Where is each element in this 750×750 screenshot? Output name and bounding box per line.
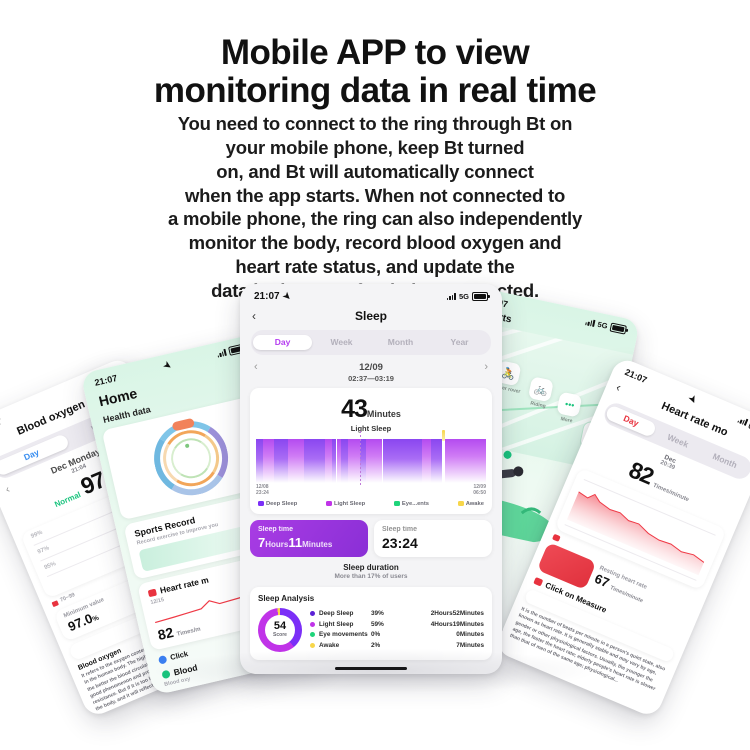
date-bar: ‹ 12/09 › <box>240 355 502 373</box>
status-bar: 21:07 ➤ 5G <box>240 284 502 305</box>
promo-page: Mobile APP to view monitoring data in re… <box>0 0 750 750</box>
battery-icon <box>472 292 488 301</box>
location-icon: ➤ <box>280 290 293 303</box>
signal-icon <box>737 416 748 426</box>
bedtime-label: Sleep time <box>382 526 484 533</box>
legend-item: Eye...ents <box>394 501 429 507</box>
hypnogram-band <box>288 439 304 483</box>
battery-icon <box>610 322 628 334</box>
hypnogram-band <box>383 439 422 483</box>
duration-sub: More than 17% of users <box>240 573 502 580</box>
location-icon: ➤ <box>161 359 173 372</box>
heart-unit: Times/m <box>176 627 201 638</box>
network-label: 5G <box>459 292 469 301</box>
axis-end: 12/09 06:50 <box>473 484 486 497</box>
legend-swatch <box>51 600 58 607</box>
prev-day-icon[interactable]: ‹ <box>4 483 12 495</box>
legend-swatch-deep <box>258 501 264 506</box>
row-dot <box>310 643 315 648</box>
stage-label: Light Sleep <box>250 424 492 433</box>
headline-line-2: monitoring data in real time <box>0 72 750 110</box>
sleep-duration-summary: Sleep duration More than 17% of users <box>240 563 502 580</box>
back-icon[interactable]: ‹ <box>252 309 266 323</box>
hypnogram-band <box>325 439 332 483</box>
row-dot <box>310 611 315 616</box>
prev-day-icon[interactable]: ‹ <box>254 361 258 373</box>
date-label: 12/09 <box>359 362 383 373</box>
legend-swatch-awake <box>458 501 464 506</box>
page-title-sleep: Sleep <box>266 309 476 323</box>
minimum-unit: % <box>92 615 100 624</box>
duration-title: Sleep duration <box>240 563 502 572</box>
cycling-icon: 🚲 <box>528 376 554 402</box>
sleep-time-tiles: Sleep time 7Hours11Minutes Sleep time 23… <box>250 520 492 557</box>
hypnogram-band <box>360 439 367 483</box>
legend-swatch-eye <box>394 501 400 506</box>
heart-icon <box>148 588 157 597</box>
current-time-marker <box>360 431 361 485</box>
signal-icon <box>216 349 227 358</box>
sleep-time-value: 7Hours11Minutes <box>258 535 360 550</box>
location-icon: ➤ <box>686 394 699 405</box>
bedtime-value: 23:24 <box>382 535 484 551</box>
legend-swatch-light <box>326 501 332 506</box>
hypnogram-band <box>341 439 348 483</box>
subcopy-line-1: You need to connect to the ring through … <box>60 112 690 136</box>
status-indicators: 5G <box>447 292 488 301</box>
axis-start: 12/08 23:24 <box>256 484 269 497</box>
analysis-row: Light Sleep 59% 4Hours19Minutes <box>310 621 484 628</box>
awake-marker <box>442 430 445 441</box>
tab-year[interactable]: Year <box>430 335 489 350</box>
sleep-chart-card: 43Minutes Light Sleep 12/08 23:24 12/09 <box>250 388 492 514</box>
row-dot <box>310 632 315 637</box>
hypnogram-band <box>263 439 275 483</box>
score-label: Score <box>273 632 287 638</box>
tab-day[interactable]: Day <box>253 335 312 350</box>
subcopy-line-3: on, and Bt will automatically connect <box>60 160 690 184</box>
duration-unit: Minutes <box>367 409 401 419</box>
phone-sleep[interactable]: 21:07 ➤ 5G ‹ Sleep Day Week <box>240 284 502 674</box>
more-icon: ••• <box>557 392 583 418</box>
duration-readout: 43Minutes <box>250 391 492 424</box>
legend-swatch <box>552 534 561 542</box>
hypnogram-axis: 12/08 23:24 12/09 06:50 <box>250 483 492 497</box>
hypnogram-band <box>366 439 382 483</box>
tab-month[interactable]: Month <box>371 335 430 350</box>
hypnogram-band <box>304 439 325 483</box>
phone-fan: 21:07 ‹ Blood oxygen satu Day Week ‹ D <box>0 262 750 682</box>
donut-center: 54 Score <box>265 615 295 645</box>
hypnogram-band <box>274 439 288 483</box>
signal-icon <box>447 293 456 300</box>
status-time: 21:07 <box>254 291 280 302</box>
analysis-row: Deep Sleep 39% 2Hours52Minutes <box>310 610 484 617</box>
activity-label: Riding <box>527 400 550 410</box>
sleep-score-donut: 54 Score <box>258 608 302 652</box>
subcopy-line-5: a mobile phone, the ring can also indepe… <box>60 207 690 231</box>
signal-icon <box>585 318 596 327</box>
legend-item: Deep Sleep <box>258 501 297 507</box>
score-value: 54 <box>274 621 286 632</box>
period-segment[interactable]: Day Week Month Year <box>251 330 491 355</box>
page-title: Mobile APP to view monitoring data in re… <box>0 34 750 110</box>
activity-rings <box>147 414 236 503</box>
analysis-rows: Deep Sleep 39% 2Hours52Minutes Light Sle… <box>310 610 484 649</box>
sleep-hypnogram <box>256 439 486 483</box>
tab-week[interactable]: Week <box>312 335 371 350</box>
headline-line-1: Mobile APP to view <box>221 33 529 72</box>
hypnogram-band <box>422 439 431 483</box>
legend-range: 70~99 <box>59 592 76 604</box>
subcopy-line-2: your mobile phone, keep Bt turned <box>60 136 690 160</box>
hypnogram-band <box>445 439 486 483</box>
network-label: 5G <box>597 319 609 330</box>
sleep-time-label: Sleep time <box>258 526 360 533</box>
time-range: 02:37—03:19 <box>240 374 502 383</box>
hypnogram-band <box>348 439 360 483</box>
subcopy-line-6: monitor the body, record blood oxygen an… <box>60 231 690 255</box>
activity-riding[interactable]: 🚲 Riding <box>527 376 555 410</box>
duration-number: 43 <box>341 395 367 423</box>
sleep-duration-tile[interactable]: Sleep time 7Hours11Minutes <box>250 520 368 557</box>
ground-shadow <box>150 648 600 694</box>
status-badge: Normal <box>53 490 82 509</box>
analysis-row: Eye movements 0% 0Minutes <box>310 631 484 638</box>
bedtime-tile[interactable]: Sleep time 23:24 <box>374 520 492 557</box>
next-day-icon[interactable]: › <box>484 361 488 373</box>
subcopy-line-4: when the app starts. When not connected … <box>60 184 690 208</box>
nav-bar: ‹ Sleep <box>240 305 502 330</box>
hypnogram-band <box>431 439 443 483</box>
legend-item: Awake <box>458 501 484 507</box>
row-dot <box>310 622 315 627</box>
analysis-title: Sleep Analysis <box>258 594 484 603</box>
hypnogram-band <box>256 439 263 483</box>
heart-icon <box>533 577 543 587</box>
sleep-legend: Deep Sleep Light Sleep Eye...ents A <box>250 497 492 512</box>
legend-item: Light Sleep <box>326 501 365 507</box>
